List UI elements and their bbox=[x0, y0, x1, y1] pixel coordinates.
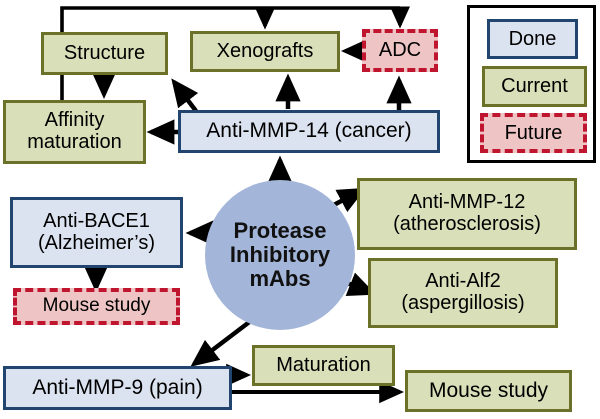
node-affinity-maturation-label-line1: Affinity bbox=[9, 110, 140, 132]
legend-item-done-label: Done bbox=[509, 28, 557, 51]
node-anti-mmp12-label-line1: Anti-MMP-12 bbox=[363, 192, 571, 214]
node-mouse-study-bace1-label: Mouse study bbox=[17, 296, 176, 317]
node-anti-bace1[interactable]: Anti-BACE1 (Alzheimer’s) bbox=[10, 197, 183, 268]
node-maturation-label: Maturation bbox=[255, 355, 392, 377]
node-mouse-study-bace1[interactable]: Mouse study bbox=[13, 288, 180, 325]
node-anti-mmp12-label-line2: (atherosclerosis) bbox=[363, 214, 571, 236]
diagram-canvas: Structure Xenografts ADC Affinity matura… bbox=[0, 0, 600, 419]
node-adc-label: ADC bbox=[366, 40, 434, 62]
node-anti-alf2[interactable]: Anti-Alf2 (aspergillosis) bbox=[368, 258, 558, 328]
node-mouse-study-mmp9-label: Mouse study bbox=[408, 380, 569, 403]
node-mouse-study-mmp9[interactable]: Mouse study bbox=[405, 370, 572, 412]
legend-item-future[interactable]: Future bbox=[480, 113, 587, 153]
node-anti-alf2-label-line2: (aspergillosis) bbox=[374, 293, 552, 315]
hub-label-line3: mAbs bbox=[208, 267, 352, 291]
node-adc[interactable]: ADC bbox=[362, 29, 438, 72]
node-affinity-maturation-label-line2: maturation bbox=[9, 132, 140, 154]
hub-label-line2: Inhibitory bbox=[208, 243, 352, 267]
node-anti-mmp14-label: Anti-MMP-14 (cancer) bbox=[181, 120, 437, 143]
node-anti-bace1-label-line1: Anti-BACE1 bbox=[16, 211, 177, 233]
legend-item-done[interactable]: Done bbox=[487, 19, 578, 59]
node-anti-mmp14[interactable]: Anti-MMP-14 (cancer) bbox=[178, 110, 440, 153]
node-structure[interactable]: Structure bbox=[41, 32, 168, 75]
legend: Done Current Future bbox=[467, 5, 596, 163]
node-anti-mmp9[interactable]: Anti-MMP-9 (pain) bbox=[3, 366, 232, 410]
node-structure-label: Structure bbox=[44, 43, 165, 65]
node-anti-alf2-label-line1: Anti-Alf2 bbox=[374, 271, 552, 293]
node-protease-inhibitory-mabs-hub[interactable]: Protease Inhibitory mAbs bbox=[205, 180, 355, 330]
node-xenografts-label: Xenografts bbox=[193, 41, 337, 63]
legend-item-current[interactable]: Current bbox=[482, 66, 587, 107]
legend-item-future-label: Future bbox=[505, 122, 563, 145]
node-xenografts[interactable]: Xenografts bbox=[190, 31, 340, 72]
edge-hub-to-mmp9 bbox=[194, 320, 252, 364]
legend-item-current-label: Current bbox=[501, 75, 568, 98]
edge-mmp14-to-structure bbox=[174, 82, 196, 111]
node-maturation[interactable]: Maturation bbox=[252, 345, 395, 386]
node-anti-mmp12[interactable]: Anti-MMP-12 (atherosclerosis) bbox=[357, 178, 577, 250]
node-affinity-maturation[interactable]: Affinity maturation bbox=[3, 100, 146, 164]
hub-label-line1: Protease bbox=[208, 219, 352, 243]
node-anti-bace1-label-line2: (Alzheimer’s) bbox=[16, 233, 177, 255]
node-anti-mmp9-label: Anti-MMP-9 (pain) bbox=[6, 377, 229, 400]
